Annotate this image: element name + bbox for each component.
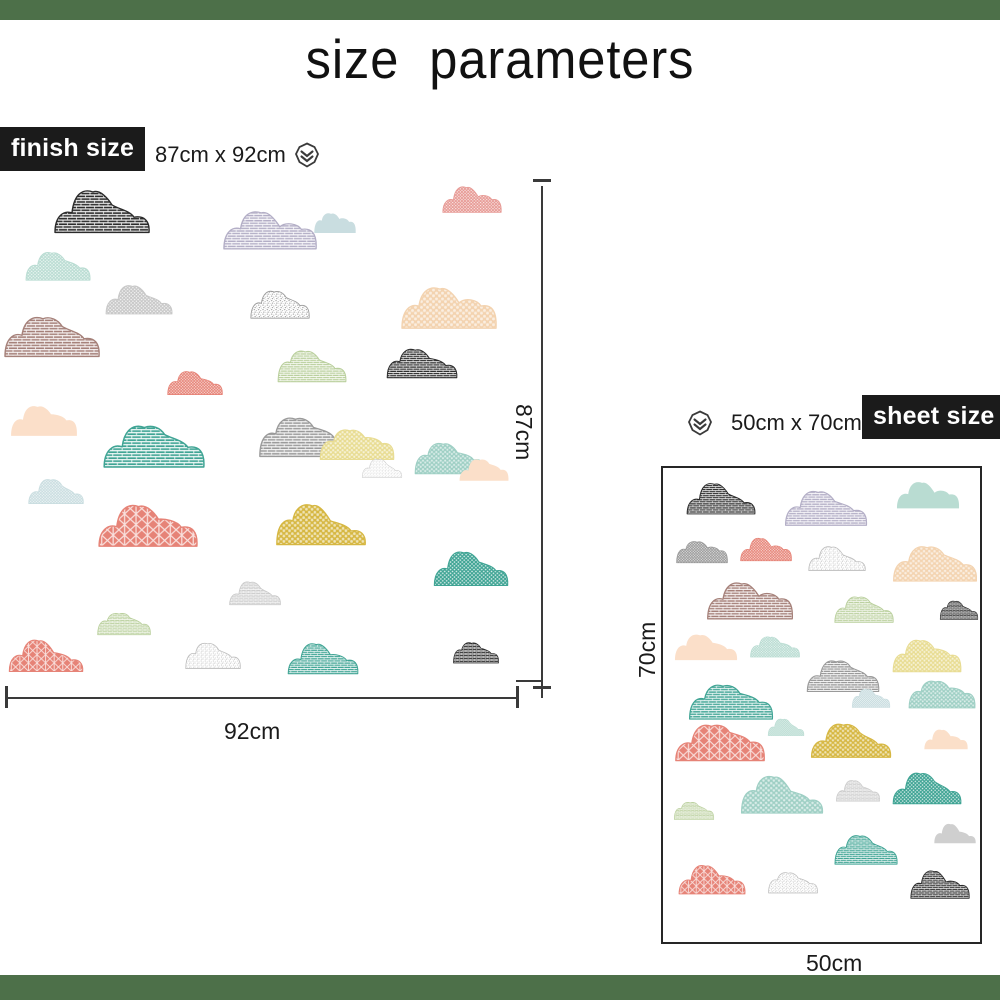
width-dimension-line [6, 697, 518, 699]
cloud-sticker [228, 578, 282, 608]
letterbox-band-bottom [0, 975, 1000, 1000]
finish-size-caption: 87cm x 92cm [155, 142, 286, 168]
cloud-sticker [2, 310, 102, 362]
sheet-size-caption: 50cm x 70cm [731, 410, 862, 436]
cloud-sticker [276, 346, 348, 386]
sheet-cloud-arrangement [663, 468, 980, 942]
cloud-sticker [685, 480, 757, 518]
cloud-sticker [52, 186, 152, 238]
infographic-page: size parameters finish size 87cm x 92cm … [0, 0, 1000, 1000]
height-dimension-line [541, 186, 543, 688]
cloud-sticker [739, 772, 825, 818]
cloud-sticker [851, 686, 891, 710]
cloud-sticker [96, 608, 152, 638]
sheet-width-label: 50cm [806, 950, 862, 977]
cloud-sticker [767, 868, 819, 896]
sheet-size-badge: sheet size [862, 395, 1000, 439]
cloud-sticker [7, 634, 85, 676]
cloud-sticker [833, 832, 899, 868]
cloud-sticker [739, 534, 793, 564]
cloud-sticker [458, 454, 510, 484]
cloud-sticker [833, 592, 895, 626]
sheet-height-label: 70cm [634, 622, 661, 678]
page-title: size parameters [40, 28, 960, 90]
cloud-sticker [891, 636, 963, 676]
cloud-sticker [24, 248, 92, 284]
dimension-corner-horizontal [516, 680, 543, 682]
cloud-sticker [9, 402, 79, 440]
cloud-sticker [891, 768, 963, 808]
cloud-sticker [895, 478, 961, 512]
height-dimension-cap-top [533, 179, 551, 182]
chevron-double-down-circle-icon-sheet [687, 410, 713, 436]
cloud-sticker [835, 778, 881, 804]
cloud-sticker [104, 280, 174, 318]
cloud-sticker [907, 674, 977, 712]
cloud-sticker [677, 860, 747, 898]
cloud-sticker [933, 820, 977, 846]
finish-size-cloud-arrangement [0, 170, 530, 690]
cloud-sticker [27, 475, 85, 507]
cloud-sticker [767, 716, 805, 738]
width-dimension-label: 92cm [224, 718, 280, 745]
cloud-sticker [432, 548, 510, 590]
cloud-sticker [923, 726, 969, 752]
cloud-sticker [705, 576, 795, 624]
cloud-sticker [385, 342, 459, 382]
chevron-double-down-circle-icon [294, 142, 320, 168]
cloud-sticker [673, 628, 739, 664]
cloud-sticker [673, 798, 715, 822]
cloud-sticker [939, 598, 979, 622]
width-dimension-cap-right [516, 686, 519, 708]
cloud-sticker [221, 206, 319, 254]
letterbox-band-top [0, 0, 1000, 20]
cloud-sticker [909, 868, 971, 902]
cloud-sticker [891, 540, 979, 586]
cloud-sticker [399, 280, 499, 334]
cloud-sticker [749, 632, 801, 660]
cloud-sticker [441, 182, 503, 216]
cloud-sticker [101, 417, 207, 473]
cloud-sticker [783, 486, 869, 530]
cloud-sticker [286, 638, 360, 678]
sheet-size-panel [661, 466, 982, 944]
cloud-sticker [361, 456, 403, 480]
cloud-sticker [675, 536, 729, 566]
cloud-sticker [452, 638, 500, 666]
cloud-sticker [313, 208, 357, 236]
cloud-sticker [166, 366, 224, 398]
dimension-corner-vertical [541, 680, 543, 698]
cloud-sticker [809, 718, 893, 762]
cloud-sticker [673, 716, 767, 766]
cloud-sticker [274, 500, 368, 550]
finish-size-badge: finish size [0, 127, 145, 171]
width-dimension-cap-left [5, 686, 8, 708]
cloud-sticker [249, 286, 311, 322]
cloud-sticker [807, 542, 867, 574]
cloud-sticker [96, 498, 200, 552]
cloud-sticker [184, 640, 242, 672]
height-dimension-label: 87cm [510, 404, 537, 460]
